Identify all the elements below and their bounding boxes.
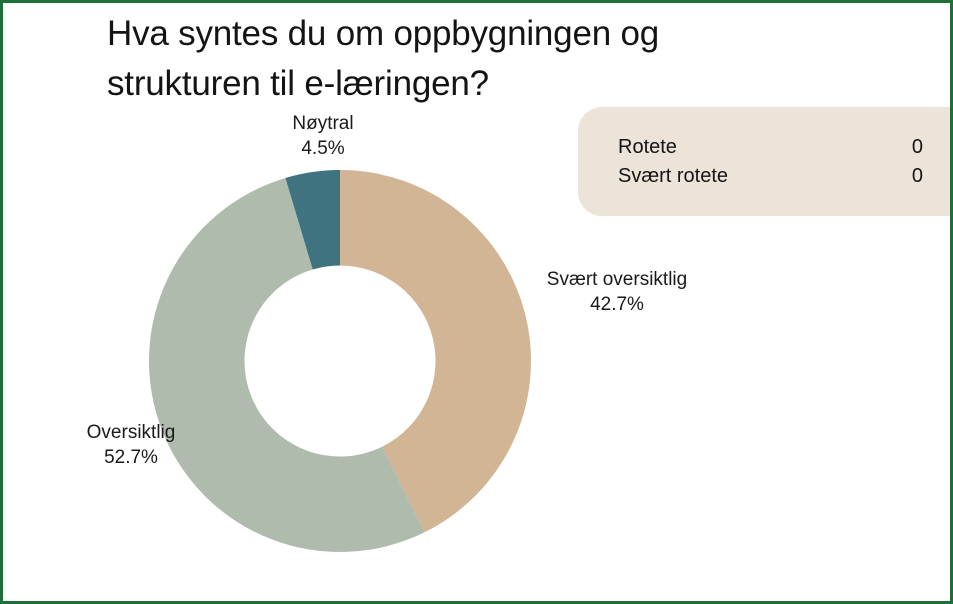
zero-row-rotete: Rotete 0 (618, 133, 923, 162)
page-title: Hva syntes du om oppbygningen og struktu… (107, 9, 807, 109)
slice-label-noytral-pct: 4.5% (247, 136, 399, 161)
slice-label-svaert-oversiktlig-name: Svært oversiktlig (547, 269, 687, 290)
slide-canvas: Hva syntes du om oppbygningen og struktu… (0, 0, 953, 604)
donut-chart-svg (146, 167, 534, 555)
slice-label-svaert-oversiktlig-pct: 42.7% (527, 292, 707, 317)
slice-label-oversiktlig: Oversiktlig 52.7% (43, 420, 219, 470)
zero-row-rotete-value: 0 (912, 133, 923, 162)
slice-label-oversiktlig-name: Oversiktlig (87, 422, 176, 443)
zero-row-svaert-rotete-value: 0 (912, 162, 923, 191)
zero-row-svaert-rotete-label: Svært rotete (618, 162, 728, 191)
slice-label-oversiktlig-pct: 52.7% (43, 445, 219, 470)
zero-row-svaert-rotete: Svært rotete 0 (618, 162, 923, 191)
zero-row-rotete-label: Rotete (618, 133, 677, 162)
slice-label-noytral-name: Nøytral (292, 113, 353, 134)
donut-chart (146, 167, 534, 555)
slice-label-svaert-oversiktlig: Svært oversiktlig 42.7% (527, 267, 707, 317)
slice-label-noytral: Nøytral 4.5% (247, 111, 399, 161)
zero-values-panel: Rotete 0 Svært rotete 0 (578, 107, 953, 216)
